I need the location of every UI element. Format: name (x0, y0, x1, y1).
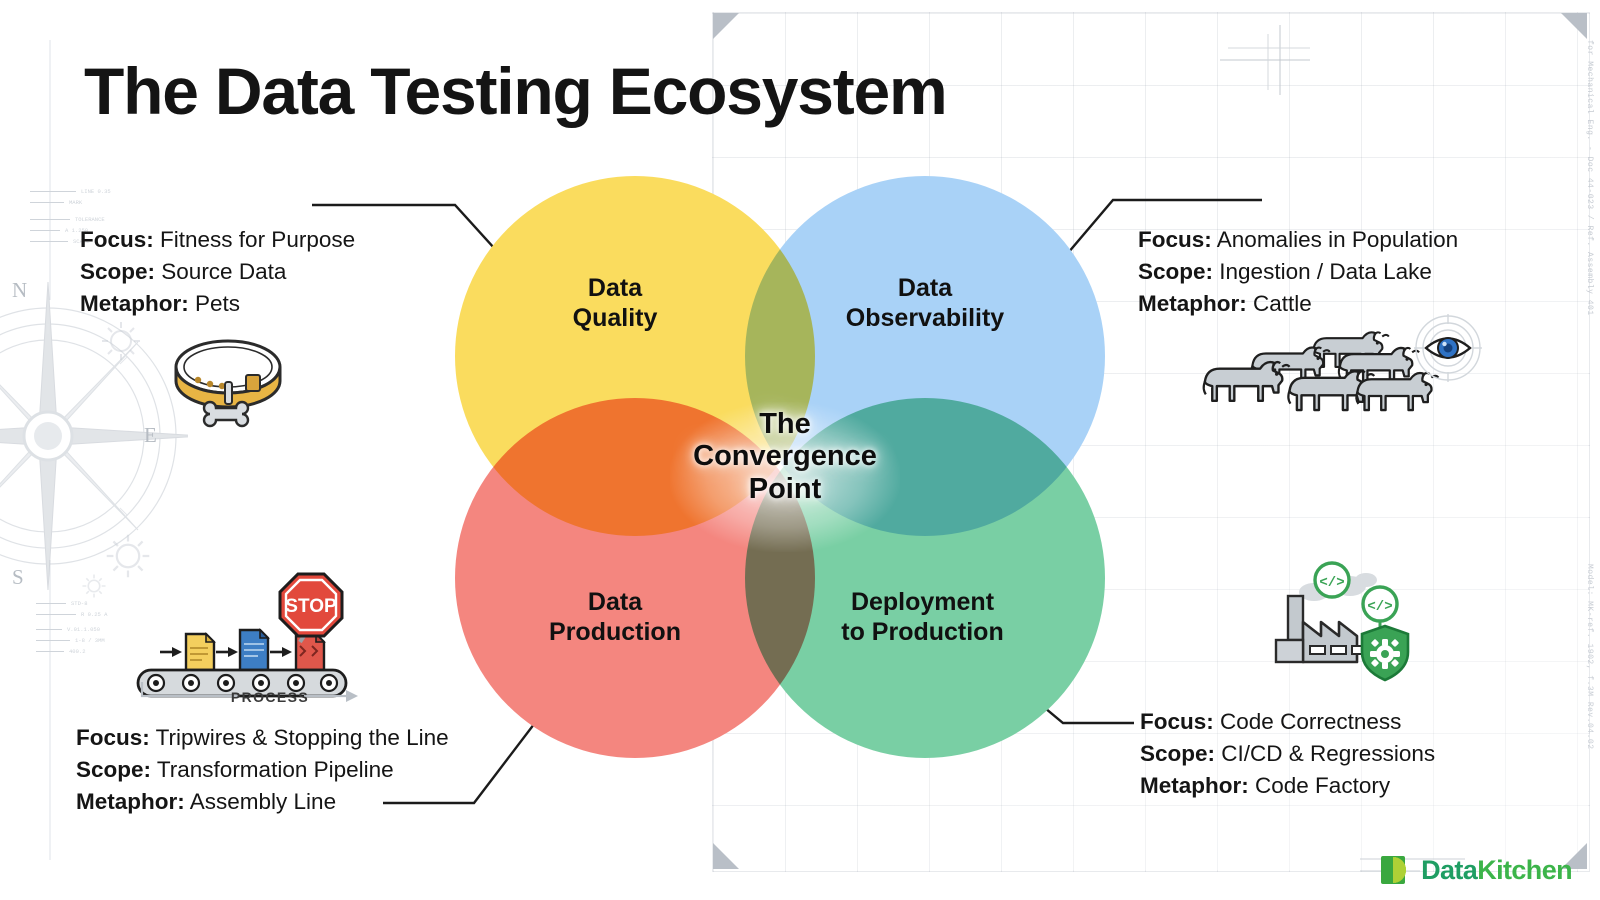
datakitchen-wordmark: DataKitchen (1421, 855, 1572, 886)
corner-marker-top-left-icon (713, 13, 739, 39)
process-label: PROCESS (231, 689, 309, 705)
venn-label-line2: Production (505, 618, 725, 648)
datakitchen-logo[interactable]: DataKitchen (1380, 854, 1572, 886)
callout-label: Scope: (76, 757, 151, 782)
spec-text: 1-8 / 3MM (75, 637, 105, 644)
callout-label: Scope: (1140, 741, 1215, 766)
logo-text-kitchen: Kitchen (1477, 855, 1572, 885)
infographic-canvas: for Mechanical Eng. - Doc 44-023 / Ref. … (0, 0, 1600, 900)
callout-value: Anomalies in Population (1217, 227, 1458, 252)
callout-row: Scope: CI/CD & Regressions (1140, 738, 1435, 770)
venn-label-line1: Data (800, 274, 1050, 304)
callout-row: Scope: Transformation Pipeline (76, 754, 449, 786)
venn-diagram: Data Quality Data Observability Data Pro… (455, 176, 1115, 866)
callout-value: Ingestion / Data Lake (1219, 259, 1432, 284)
blueprint-note-right-bottom: Model: MK-ref. 1902, f.3M Rev.04.02 (1585, 564, 1594, 750)
callout-row: Focus: Anomalies in Population (1138, 224, 1458, 256)
convergence-line1: The (660, 408, 910, 440)
callout-value: Assembly Line (190, 789, 336, 814)
callout-value: Code Factory (1255, 773, 1390, 798)
blueprint-note-right-top: for Mechanical Eng. - Doc 44-023 / Ref. … (1585, 40, 1594, 316)
callout-value: Source Data (161, 259, 286, 284)
venn-label-deployment-to-production: Deployment to Production (790, 588, 1055, 647)
venn-label-data-quality: Data Quality (505, 274, 725, 333)
venn-label-line2: to Production (790, 618, 1055, 648)
callout-label: Metaphor: (76, 789, 185, 814)
corner-marker-top-right-icon (1561, 13, 1587, 39)
compass-cardinal-east: E (144, 423, 157, 448)
code-glyph-bubble-2: </> (1367, 599, 1392, 615)
compass-cardinal-north: N (12, 278, 27, 303)
data-observability-callout: Focus: Anomalies in Population Scope: In… (1138, 224, 1458, 321)
callout-row: Metaphor: Pets (80, 288, 355, 320)
callout-row: Focus: Code Correctness (1140, 706, 1435, 738)
venn-label-line2: Quality (505, 304, 725, 334)
callout-value: Pets (195, 291, 240, 316)
gear-watermark-small-icon (78, 570, 110, 602)
venn-label-line1: Deployment (790, 588, 1055, 618)
callout-row: Focus: Fitness for Purpose (80, 224, 355, 256)
venn-label-data-observability: Data Observability (800, 274, 1050, 333)
callout-label: Focus: (1140, 709, 1214, 734)
callout-row: Scope: Source Data (80, 256, 355, 288)
convergence-line2: Convergence (660, 440, 910, 472)
callout-row: Focus: Tripwires & Stopping the Line (76, 722, 449, 754)
callout-label: Metaphor: (1140, 773, 1249, 798)
callout-label: Focus: (76, 725, 150, 750)
callout-label: Metaphor: (80, 291, 189, 316)
code-glyph-bubble-1: </> (1319, 575, 1344, 591)
eye-observability-icon (1412, 312, 1484, 384)
venn-label-line1: Data (505, 588, 725, 618)
spec-text: R 0.25 A (81, 611, 107, 618)
spec-text: LINE 0.35 (81, 188, 111, 195)
datakitchen-mark-icon (1380, 854, 1412, 886)
callout-label: Metaphor: (1138, 291, 1247, 316)
spec-text: TOLERANCE (75, 216, 105, 223)
callout-value: Code Correctness (1220, 709, 1401, 734)
venn-label-line1: Data (505, 274, 725, 304)
callout-label: Scope: (1138, 259, 1213, 284)
callout-label: Scope: (80, 259, 155, 284)
callout-row: Scope: Ingestion / Data Lake (1138, 256, 1458, 288)
gear-watermark-icon (96, 316, 146, 366)
process-label-arrow: PROCESS (136, 680, 372, 716)
callout-row: Metaphor: Assembly Line (76, 786, 449, 818)
stop-sign-label: STOP (285, 596, 337, 617)
code-factory-icon: </> </> (1266, 552, 1416, 682)
callout-value: Fitness for Purpose (160, 227, 355, 252)
data-quality-callout: Focus: Fitness for Purpose Scope: Source… (80, 224, 355, 321)
spec-text: V.01.1.050 (67, 626, 100, 633)
pet-collar-icon (168, 330, 288, 442)
logo-text-data: Data (1421, 855, 1477, 885)
convergence-line3: Point (660, 473, 910, 505)
page-title: The Data Testing Ecosystem (84, 58, 947, 124)
venn-label-line2: Observability (800, 304, 1050, 334)
callout-value: CI/CD & Regressions (1221, 741, 1435, 766)
data-production-callout: Focus: Tripwires & Stopping the Line Sco… (76, 722, 449, 819)
callout-row: Metaphor: Code Factory (1140, 770, 1435, 802)
deployment-callout: Focus: Code Correctness Scope: CI/CD & R… (1140, 706, 1435, 803)
compass-cardinal-south: S (12, 565, 24, 590)
callout-row: Metaphor: Cattle (1138, 288, 1458, 320)
callout-label: Focus: (80, 227, 154, 252)
convergence-point-label: The Convergence Point (660, 408, 910, 505)
callout-value: Cattle (1253, 291, 1312, 316)
callout-label: Focus: (1138, 227, 1212, 252)
callout-value: Tripwires & Stopping the Line (156, 725, 449, 750)
spec-text: MARK (69, 199, 82, 206)
spec-text: 400.2 (69, 648, 86, 655)
blueprint-crosshair-icon (1210, 20, 1320, 100)
venn-label-data-production: Data Production (505, 588, 725, 647)
callout-value: Transformation Pipeline (157, 757, 394, 782)
